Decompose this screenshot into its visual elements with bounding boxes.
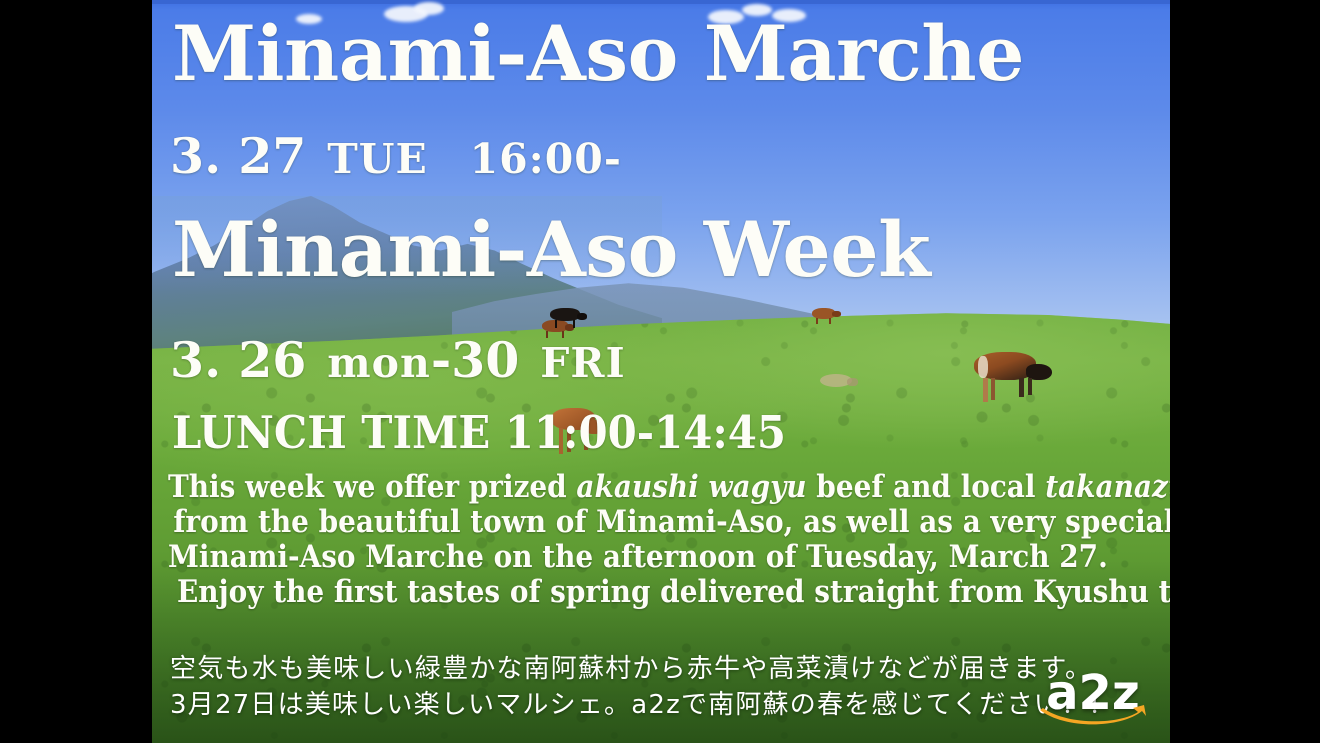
desc-1-pre: This week we offer prized: [168, 469, 576, 505]
desc-1-mid: beef and local: [807, 469, 1046, 505]
date-line-marche: 3. 27 TUE 16:00-: [170, 118, 622, 188]
week-weekday-from: mon: [327, 339, 431, 387]
japanese-line-1: 空気も水も美味しい緑豊かな南阿蘇村から赤牛や高菜漬けなどが届きます。: [170, 648, 1092, 685]
poster-text: Minami-Aso Marche 3. 27 TUE 16:00- Minam…: [152, 0, 1170, 743]
english-description: This week we offer prized akaushi wagyu …: [168, 470, 1158, 610]
poster-image: Minami-Aso Marche 3. 27 TUE 16:00- Minam…: [152, 0, 1170, 743]
marche-date-weekday: TUE: [327, 135, 428, 183]
desc-1-em1: akaushi wagyu: [576, 469, 806, 505]
letterbox-stage: Minami-Aso Marche 3. 27 TUE 16:00- Minam…: [0, 0, 1320, 743]
desc-1-em2: takanazuke: [1045, 469, 1170, 505]
week-date-to: -30: [431, 331, 520, 389]
marche-date-time: 16:00-: [470, 135, 622, 183]
description-line-1: This week we offer prized akaushi wagyu …: [168, 470, 1059, 505]
date-line-week: 3. 26 mon-30 FRI: [170, 322, 626, 392]
description-line-3: Minami-Aso Marche on the afternoon of Tu…: [168, 540, 1059, 575]
lunch-time-line: LUNCH TIME 11:00-14:45: [172, 406, 786, 459]
heading-marche: Minami-Aso Marche: [172, 16, 1024, 92]
marche-date-day: 3. 27: [170, 127, 306, 185]
a2z-logo: a2z: [1034, 669, 1152, 733]
week-date-from: 3. 26: [170, 331, 306, 389]
description-line-4: Enjoy the first tastes of spring deliver…: [168, 575, 1059, 610]
heading-week: Minami-Aso Week: [172, 212, 930, 288]
japanese-line-2: 3月27日は美味しい楽しいマルシェ。a2zで南阿蘇の春を感じてください！！: [170, 684, 1115, 721]
week-weekday-to: FRI: [540, 339, 625, 387]
description-line-2: from the beautiful town of Minami-Aso, a…: [168, 505, 1059, 540]
smile-arrow-icon: [1034, 705, 1152, 731]
